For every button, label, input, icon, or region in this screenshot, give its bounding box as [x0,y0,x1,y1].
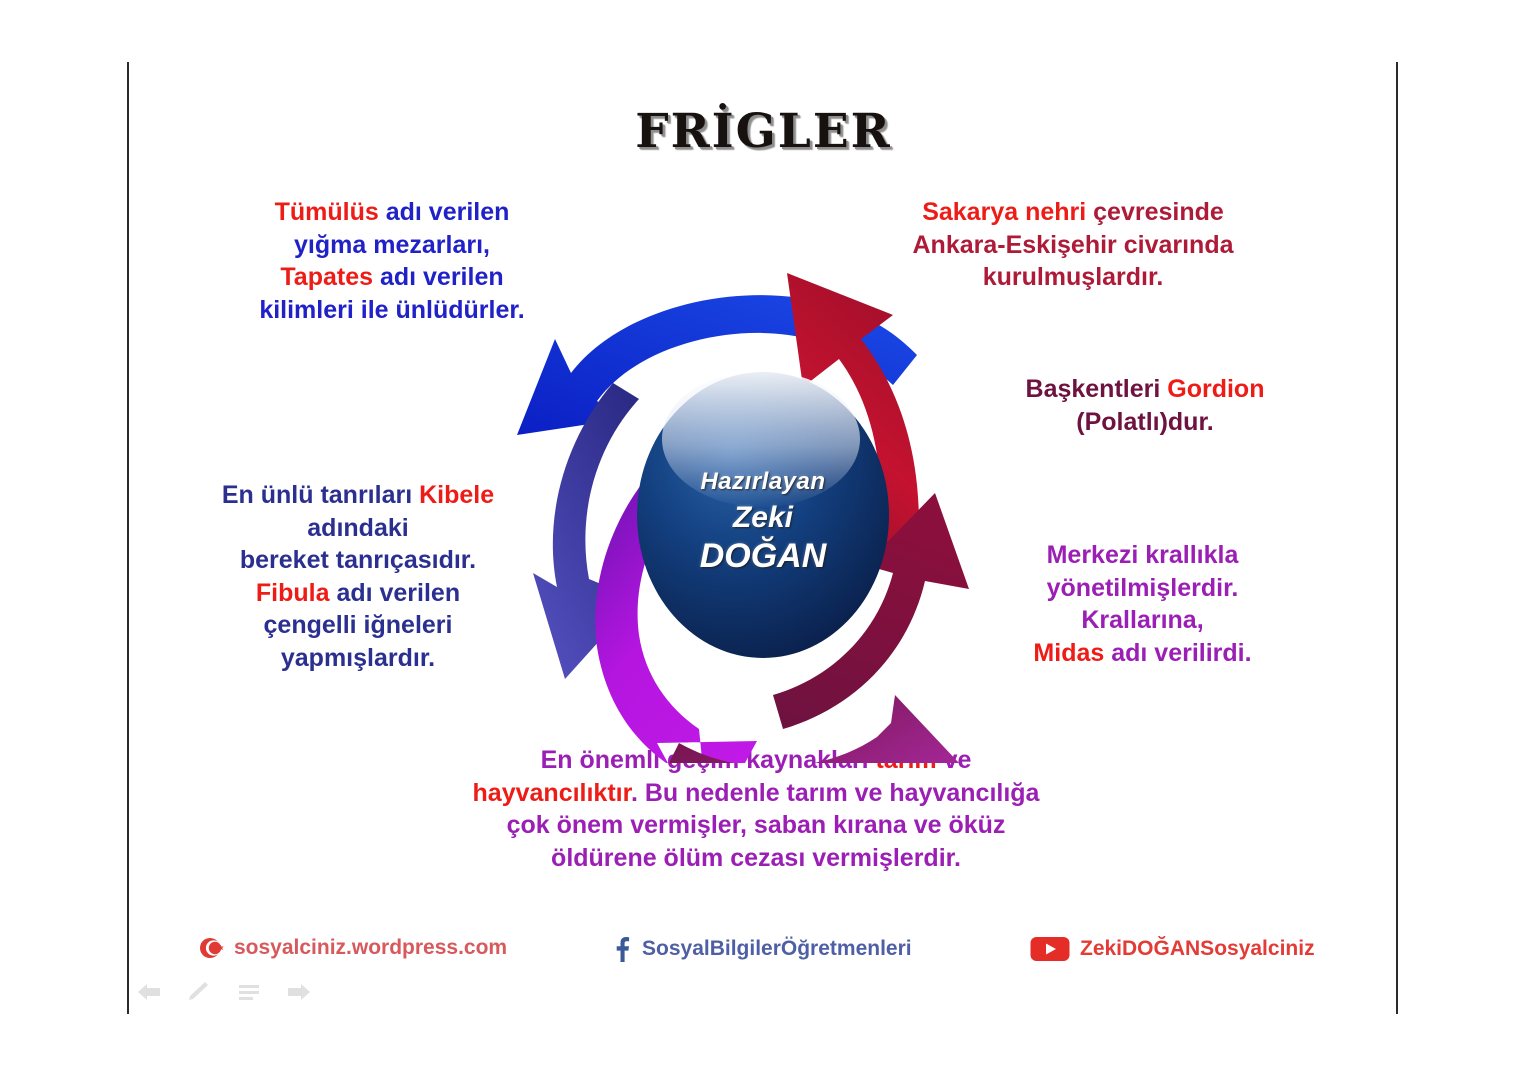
text-run: çevresinde [1093,198,1224,226]
center-sphere [637,371,889,658]
text-run: En ünlü tanrıları [222,481,419,509]
text-run: çengelli iğneleri [264,611,453,639]
next-arrow-icon[interactable] [286,979,312,1005]
text-run: Gordion [1167,375,1264,403]
text-run: yönetilmişlerdir. [1047,574,1239,602]
text-run: Merkezi krallıkla [1047,541,1239,569]
text-run: Tümülüs [275,198,386,226]
pen-icon[interactable] [186,979,212,1005]
text-run: çok önem vermişler, saban kırana ve öküz [507,811,1006,839]
text-line: hayvancılıktır. Bu nedenle tarım ve hayv… [398,777,1114,810]
text-run: adı verilirdi. [1111,639,1251,667]
text-run: (Polatlı)dur. [1076,408,1214,436]
footer-wordpress[interactable]: sosyalciniz.wordpress.com [198,935,507,961]
footer-youtube-label: ZekiDOĞANSosyalciniz [1080,937,1315,961]
text-line: öldürene ölüm cezası vermişlerdir. [398,842,1114,875]
text-run: Fibula [256,579,337,607]
text-line: çok önem vermişler, saban kırana ve öküz [398,809,1114,842]
callout-gecim: En önemli geçim kaynakları tarım vehayva… [398,744,1114,874]
menu-lines-icon[interactable] [236,979,262,1005]
youtube-icon [1030,935,1070,963]
text-run: öldürene ölüm cezası vermişlerdir. [551,844,961,872]
page-title: FRİGLER [0,104,1527,159]
footer-facebook-label: SosyalBilgilerÖğretmenleri [642,937,912,961]
crescent-flag-icon [198,935,224,961]
text-run: adındaki [307,514,408,542]
slide-border-right [1396,62,1398,1014]
text-run: Sakarya nehri [922,198,1093,226]
previous-arrow-icon[interactable] [136,979,162,1005]
text-run: yapmışlardır. [281,644,435,672]
slide-canvas: FRİGLER Tümülüs adı verilenyığma mezarla… [0,0,1527,1080]
facebook-icon [610,935,632,963]
footer-wordpress-label: sosyalciniz.wordpress.com [234,936,507,960]
swirl-diagram: Hazırlayan Zeki DOĞAN [473,243,1053,763]
text-run: . Bu nedenle tarım ve hayvancılığa [631,779,1039,807]
text-run: adı verilen [336,579,460,607]
footer-youtube[interactable]: ZekiDOĞANSosyalciniz [1030,935,1315,963]
presentation-toolbar[interactable] [136,979,312,1005]
text-run: Krallarına, [1081,606,1203,634]
text-run: Tapates [280,263,380,291]
slide-border-left [127,62,129,1014]
text-line: Tümülüs adı verilen [212,196,572,229]
text-run: hayvancılıktır [473,779,631,807]
text-run: yığma mezarları, [294,231,490,259]
text-run: bereket tanrıçasıdır. [240,546,476,574]
footer-facebook[interactable]: SosyalBilgilerÖğretmenleri [610,935,912,963]
text-run: adı verilen [386,198,510,226]
text-line: Sakarya nehri çevresinde [868,196,1278,229]
